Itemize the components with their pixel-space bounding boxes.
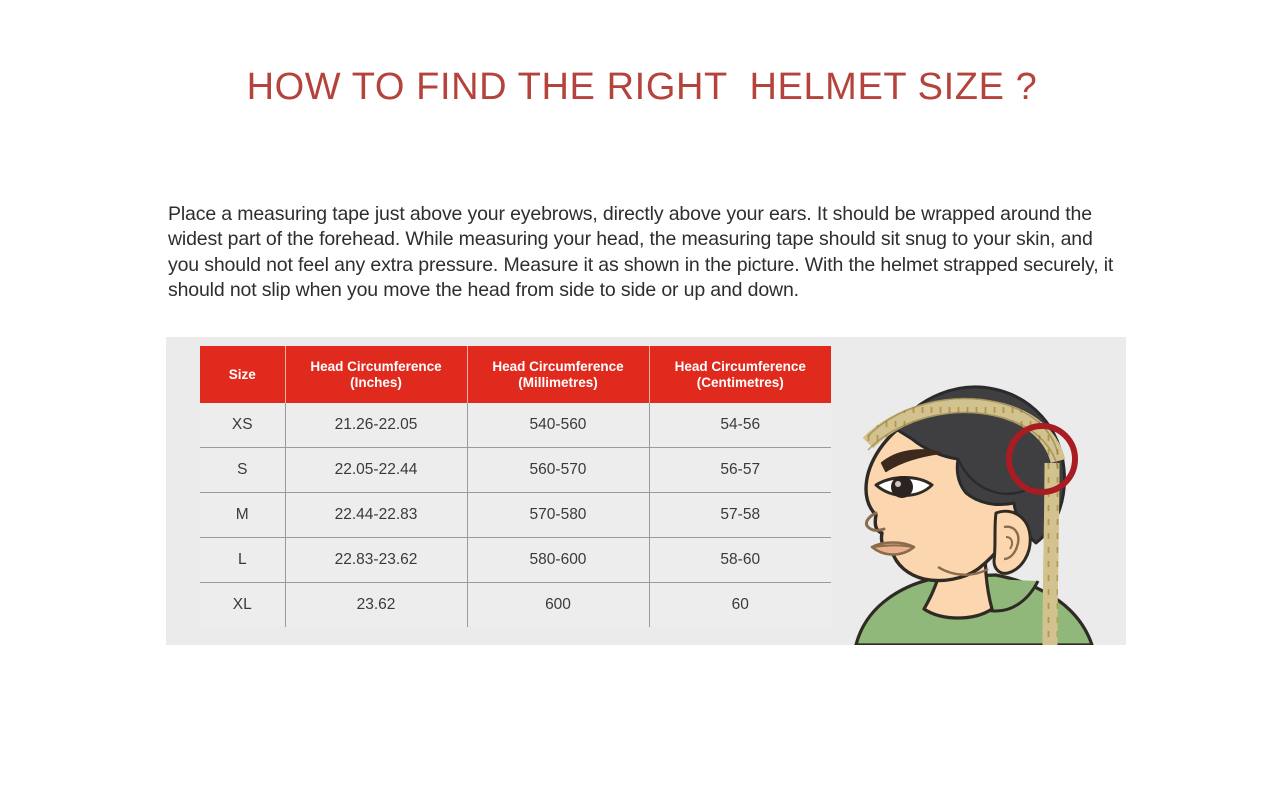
column-header-inches-line1: Head Circumference xyxy=(286,359,467,375)
cell-inches: 23.62 xyxy=(285,583,467,628)
cell-millimetres: 580-600 xyxy=(467,538,649,583)
page-title: HOW TO FIND THE RIGHT HELMET SIZE ? xyxy=(0,66,1284,109)
table-row: L 22.83-23.62 580-600 58-60 xyxy=(200,538,831,583)
cell-centimetres: 54-56 xyxy=(649,403,831,448)
column-header-inches: Head Circumference (Inches) xyxy=(285,346,467,403)
size-chart-band: Size Head Circumference (Inches) Head Ci… xyxy=(166,337,1126,645)
cell-inches: 22.83-23.62 xyxy=(285,538,467,583)
cell-centimetres: 57-58 xyxy=(649,493,831,538)
intro-paragraph: Place a measuring tape just above your e… xyxy=(168,202,1120,304)
cell-size: XL xyxy=(200,583,285,628)
cell-centimetres: 58-60 xyxy=(649,538,831,583)
cell-inches: 22.44-22.83 xyxy=(285,493,467,538)
column-header-centimetres: Head Circumference (Centimetres) xyxy=(649,346,831,403)
cell-millimetres: 600 xyxy=(467,583,649,628)
cell-size: S xyxy=(200,448,285,493)
cell-millimetres: 540-560 xyxy=(467,403,649,448)
table-row: M 22.44-22.83 570-580 57-58 xyxy=(200,493,831,538)
column-header-centimetres-line1: Head Circumference xyxy=(650,359,832,375)
column-header-millimetres: Head Circumference (Millimetres) xyxy=(467,346,649,403)
cell-centimetres: 56-57 xyxy=(649,448,831,493)
cell-size: XS xyxy=(200,403,285,448)
column-header-size-line1: Size xyxy=(200,367,285,383)
cell-millimetres: 570-580 xyxy=(467,493,649,538)
head-measurement-illustration xyxy=(846,337,1126,645)
column-header-size: Size xyxy=(200,346,285,403)
table-row: XL 23.62 600 60 xyxy=(200,583,831,628)
table-row: XS 21.26-22.05 540-560 54-56 xyxy=(200,403,831,448)
cell-inches: 21.26-22.05 xyxy=(285,403,467,448)
cell-centimetres: 60 xyxy=(649,583,831,628)
column-header-millimetres-line2: (Millimetres) xyxy=(468,375,649,391)
cell-millimetres: 560-570 xyxy=(467,448,649,493)
cell-size: M xyxy=(200,493,285,538)
column-header-centimetres-line2: (Centimetres) xyxy=(650,375,832,391)
column-header-inches-line2: (Inches) xyxy=(286,375,467,391)
table-row: S 22.05-22.44 560-570 56-57 xyxy=(200,448,831,493)
column-header-millimetres-line1: Head Circumference xyxy=(468,359,649,375)
cell-size: L xyxy=(200,538,285,583)
cell-inches: 22.05-22.44 xyxy=(285,448,467,493)
table-header-row: Size Head Circumference (Inches) Head Ci… xyxy=(200,346,831,403)
helmet-size-table: Size Head Circumference (Inches) Head Ci… xyxy=(200,346,831,627)
